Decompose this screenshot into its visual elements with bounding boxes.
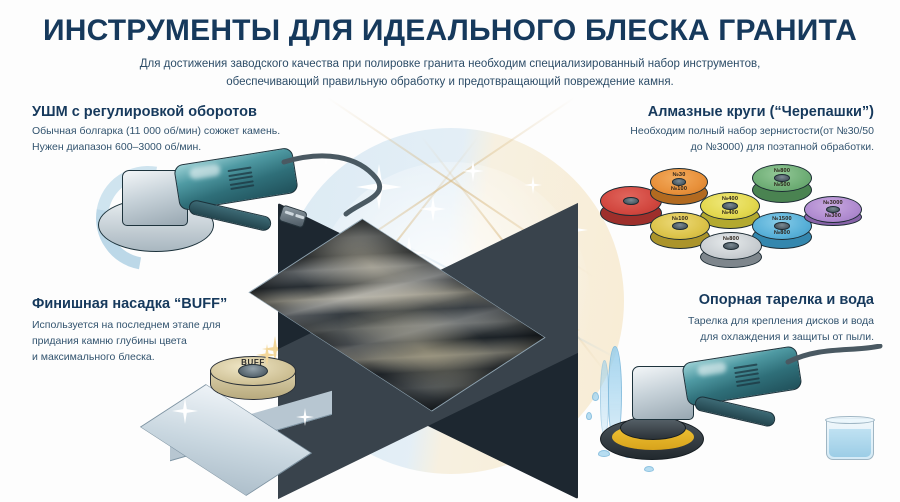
disc-gray: №800 xyxy=(700,232,762,276)
section-body-backer: Тарелка для крепления дисков и вода для … xyxy=(584,314,874,346)
section-heading-backer: Опорная тарелка и вода xyxy=(699,292,874,308)
grinder-side-handle xyxy=(693,395,776,428)
sparkle-icon xyxy=(462,160,484,182)
power-cord xyxy=(784,344,894,404)
water-droplet xyxy=(592,392,599,401)
buff-pad-illustration: BUFF xyxy=(150,352,350,477)
disc-grit-top: №3000 xyxy=(823,200,843,206)
disc-grit-bottom: №100 xyxy=(671,186,687,192)
disc-grit-bottom: №400 xyxy=(722,210,738,216)
page-subtitle: Для достижения заводского качества при п… xyxy=(110,56,790,92)
water-droplet xyxy=(644,466,654,472)
infographic-canvas: ИНСТРУМЕНТЫ ДЛЯ ИДЕАЛЬНОГО БЛЕСКА ГРАНИТ… xyxy=(0,0,900,502)
water-droplet xyxy=(586,412,592,420)
disc-grit-top: №800 xyxy=(774,168,790,174)
grinder-vents xyxy=(734,363,761,389)
disc-face: №3000 №300 xyxy=(804,196,862,223)
sparkle-icon xyxy=(524,176,542,194)
disc-grit-top: №400 xyxy=(722,196,738,202)
glass-rim xyxy=(825,416,875,424)
page-title: ИНСТРУМЕНТЫ ДЛЯ ИДЕАЛЬНОГО БЛЕСКА ГРАНИТ… xyxy=(0,14,900,48)
disc-center-hole xyxy=(623,197,639,205)
water-stream xyxy=(600,360,609,436)
water-droplet xyxy=(598,450,610,457)
disc-grit-top: №30 xyxy=(672,172,685,178)
disc-grit-top: №100 xyxy=(672,216,688,222)
buff-center-hole xyxy=(238,364,268,378)
disc-grit-top: №1500 xyxy=(772,216,792,222)
disc-face: №800 №500 xyxy=(752,164,812,192)
water-level xyxy=(829,429,871,457)
disc-grit-top: №800 xyxy=(723,236,739,242)
angle-grinder-illustration xyxy=(104,150,324,260)
section-body-discs: Необходим полный набор зернистости(от №3… xyxy=(584,124,874,156)
disc-grit-bottom: №800 xyxy=(774,230,790,236)
disc-purple: №3000 №300 xyxy=(804,196,862,236)
section-heading-buff: Финишная насадка “BUFF” xyxy=(32,296,227,312)
angle-grinder-wet-illustration xyxy=(624,350,830,450)
disc-center-hole xyxy=(723,242,739,250)
disc-grit-bottom: №500 xyxy=(774,182,790,188)
disc-face: №800 xyxy=(700,232,762,260)
water-glass xyxy=(826,418,874,460)
disc-green: №800 №500 xyxy=(752,164,812,208)
disc-grit-bottom: №300 xyxy=(825,213,841,219)
section-heading-discs: Алмазные круги (“Черепашки”) xyxy=(648,104,874,120)
grinder-vents xyxy=(228,166,255,192)
disc-center-hole xyxy=(672,222,687,230)
section-heading-grinder: УШМ с регулировкой оборотов xyxy=(32,104,257,120)
